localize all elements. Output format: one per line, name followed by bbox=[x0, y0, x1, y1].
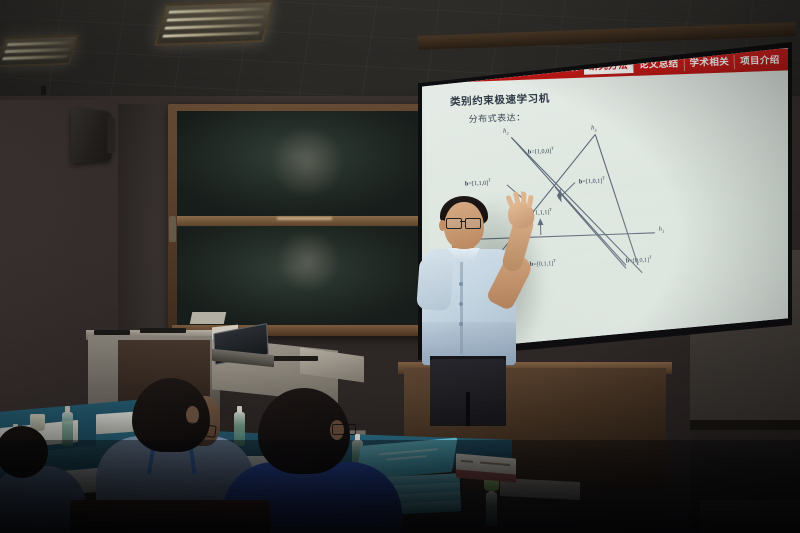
chalkboard-panel-top bbox=[177, 111, 427, 217]
ceiling-sensor-2 bbox=[41, 86, 46, 95]
presenter bbox=[404, 196, 554, 426]
lecture-photo-scene: 研究背景 研究方法 论文总结 学术相关 项目介绍 类别约束极速学习机 分布式表达… bbox=[0, 0, 800, 533]
presenter-shirt-button-1 bbox=[459, 282, 463, 286]
audience-1-ear bbox=[186, 406, 199, 424]
console-strip-1 bbox=[94, 330, 130, 335]
presenter-glasses bbox=[446, 218, 484, 227]
presenter-shirt-button-3 bbox=[459, 322, 463, 326]
vector-label-101: b=[1,0,1]T bbox=[579, 175, 605, 185]
wall-speaker bbox=[71, 108, 112, 163]
green-chalkboard bbox=[168, 104, 436, 336]
vector-label-100: b=[1,0,0]T bbox=[528, 146, 554, 156]
vector-label-001: b=[0,0,1]T bbox=[626, 255, 652, 265]
vector-label-110: b=[1,1,0]T bbox=[465, 178, 491, 188]
ceiling-light-panel-1 bbox=[154, 0, 274, 46]
presenter-shirt-placket bbox=[460, 262, 463, 354]
chalk-tray-paper bbox=[190, 312, 227, 324]
axis-label-h3: h3 bbox=[591, 125, 597, 133]
audience-2-glasses bbox=[332, 424, 356, 435]
presenter-leg-gap bbox=[466, 392, 470, 426]
chalkboard-inner bbox=[177, 111, 427, 326]
slide-title: 类别约束极速学习机 bbox=[450, 91, 550, 109]
chalkboard-hinge-left bbox=[169, 216, 176, 242]
console-strip-2 bbox=[140, 328, 186, 333]
chalkboard-rail bbox=[177, 216, 427, 226]
presenter-left-sleeve bbox=[416, 257, 454, 311]
presenter-shirt-button-2 bbox=[459, 302, 463, 306]
ceiling-light-panel-2 bbox=[0, 35, 79, 68]
nav-item-4[interactable]: 项目介绍 bbox=[734, 52, 785, 69]
foreground-shadow bbox=[0, 440, 800, 533]
presenter-ear bbox=[439, 220, 446, 231]
axis-label-h1: h1 bbox=[659, 226, 665, 234]
axis-label-h2: h2 bbox=[503, 128, 509, 136]
